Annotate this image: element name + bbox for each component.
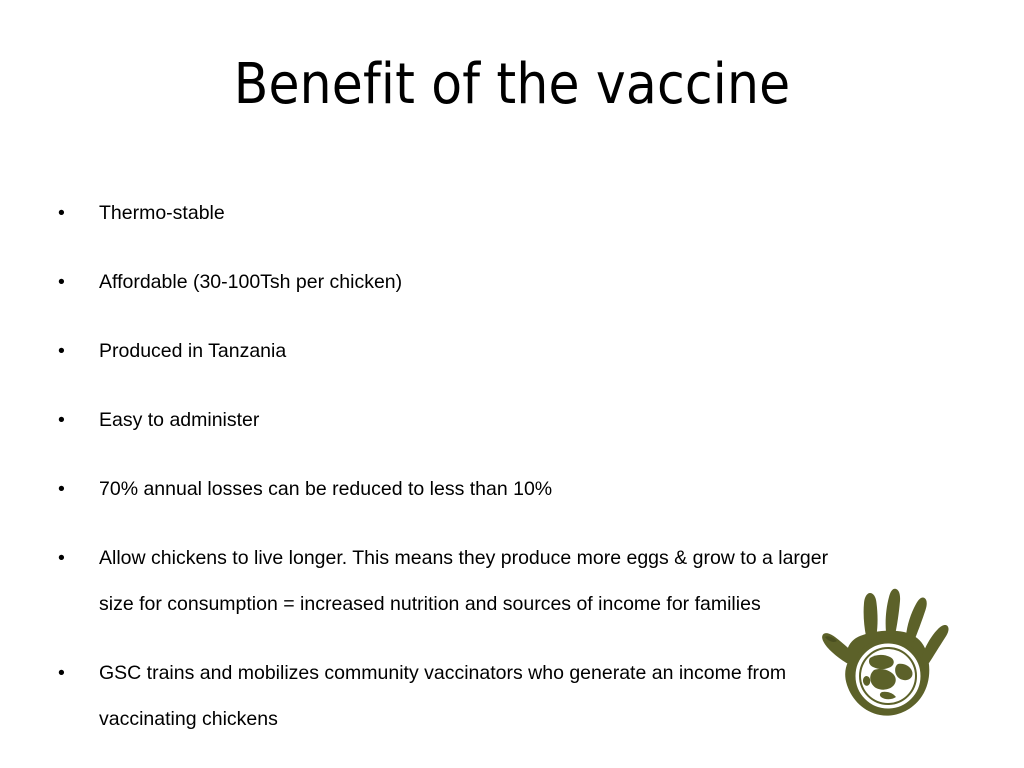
list-item: • Thermo-stable xyxy=(52,190,982,236)
list-item: • Produced in Tanzania xyxy=(52,328,982,374)
slide: Benefit of the vaccine • Thermo-stable •… xyxy=(0,0,1024,768)
bullet-point-icon: • xyxy=(58,328,70,374)
list-item-text: 70% annual losses can be reduced to less… xyxy=(99,466,982,512)
bullet-point-icon: • xyxy=(58,397,70,443)
list-item-text: Affordable (30-100Tsh per chicken) xyxy=(99,259,982,305)
globe-motif xyxy=(853,641,923,711)
list-item-text: Easy to administer xyxy=(99,397,982,443)
bullet-point-icon: • xyxy=(58,650,70,696)
bullet-point-icon: • xyxy=(58,535,70,581)
page-title: Benefit of the vaccine xyxy=(0,54,1024,116)
text-line: Allow chickens to live longer. This mean… xyxy=(99,535,982,581)
gsc-handprint-globe-logo xyxy=(812,584,974,734)
text-line: Produced in Tanzania xyxy=(99,328,982,374)
list-item-text: Produced in Tanzania xyxy=(99,328,982,374)
list-item-text: Thermo-stable xyxy=(99,190,982,236)
list-item: • Affordable (30-100Tsh per chicken) xyxy=(52,259,982,305)
text-line: Affordable (30-100Tsh per chicken) xyxy=(99,259,982,305)
bullet-point-icon: • xyxy=(58,190,70,236)
text-line: Easy to administer xyxy=(99,397,982,443)
bullet-point-icon: • xyxy=(58,259,70,305)
list-item: • 70% annual losses can be reduced to le… xyxy=(52,466,982,512)
text-line: Thermo-stable xyxy=(99,190,982,236)
text-line: 70% annual losses can be reduced to less… xyxy=(99,466,982,512)
list-item: • Easy to administer xyxy=(52,397,982,443)
bullet-point-icon: • xyxy=(58,466,70,512)
